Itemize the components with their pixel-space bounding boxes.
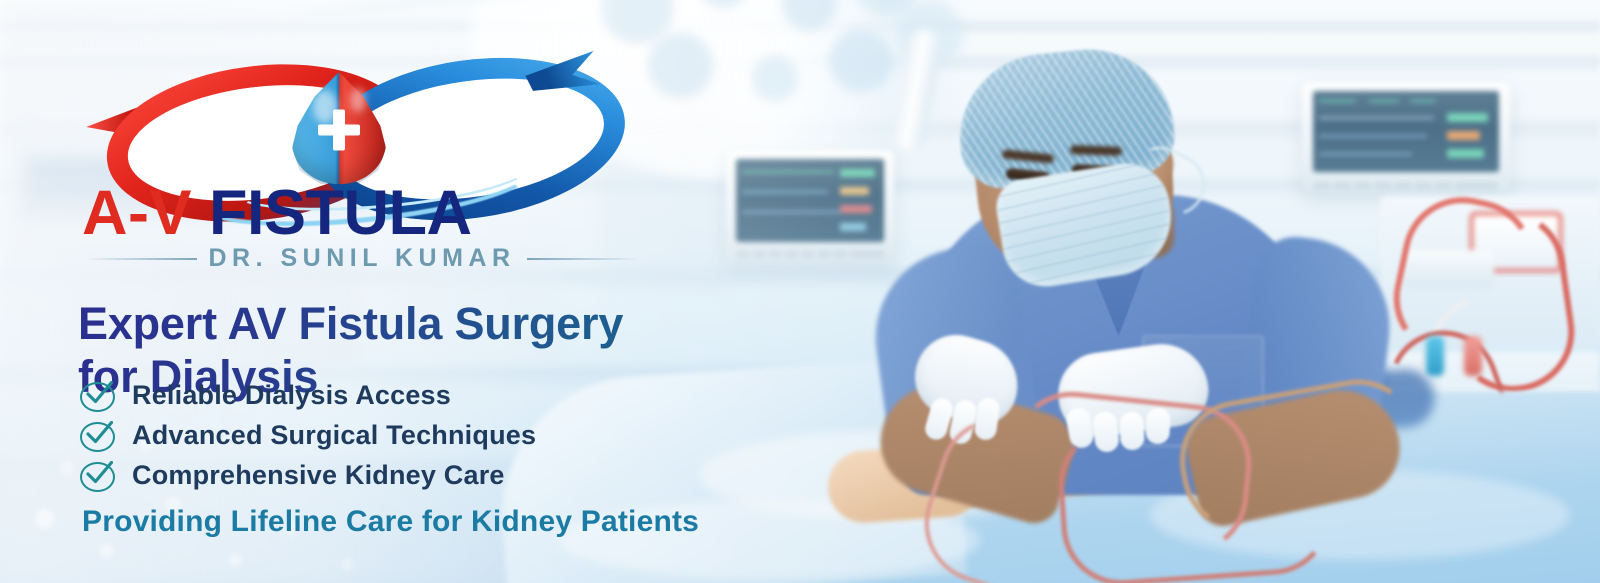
- list-item: Comprehensive Kidney Care: [80, 455, 840, 495]
- tube-clamp-blue: [1426, 336, 1444, 376]
- list-item: Advanced Surgical Techniques: [80, 415, 840, 455]
- doctor-name: DR. SUNIL KUMAR: [208, 244, 515, 273]
- patient-monitor-left: [726, 150, 894, 262]
- feature-label: Advanced Surgical Techniques: [132, 420, 536, 451]
- brand-logo[interactable]: A-V FISTULA DR. SUNIL KUMAR: [78, 48, 638, 258]
- monitor-buttons: [736, 250, 884, 258]
- rule-right: [527, 258, 640, 260]
- check-tick: [86, 461, 113, 486]
- medical-cross-icon: [318, 125, 359, 136]
- tube-clamp-red: [1464, 336, 1482, 376]
- check-circle-icon: [80, 460, 116, 490]
- feature-label: Reliable Dialysis Access: [132, 380, 451, 411]
- headline-line-1: Expert AV Fistula Surgery: [78, 298, 623, 349]
- monitor-screen: [1313, 91, 1499, 172]
- rule-left: [84, 258, 197, 260]
- wordmark-av: A-V: [82, 178, 192, 248]
- monitor-screen: [736, 159, 884, 242]
- monitor-buttons: [1314, 182, 1497, 190]
- blood-droplet-icon: [292, 72, 386, 184]
- check-circle-icon: [80, 380, 116, 410]
- feature-list: Reliable Dialysis Access Advanced Surgic…: [80, 375, 840, 495]
- surgeon-eyebrow: [1070, 145, 1122, 156]
- av-fistula-hero-banner: A-V FISTULA DR. SUNIL KUMAR Expert AV Fi…: [0, 0, 1600, 583]
- check-circle-icon: [80, 420, 116, 450]
- tagline: Providing Lifeline Care for Kidney Patie…: [82, 505, 1042, 539]
- feature-label: Comprehensive Kidney Care: [132, 460, 505, 491]
- wordmark-fistula: FISTULA: [192, 178, 471, 248]
- check-tick: [86, 421, 113, 446]
- patient-monitor-right: [1302, 82, 1510, 194]
- check-tick: [86, 381, 113, 406]
- logo-doctor-line: DR. SUNIL KUMAR: [84, 244, 640, 273]
- list-item: Reliable Dialysis Access: [80, 375, 840, 415]
- logo-wordmark: A-V FISTULA: [82, 182, 642, 245]
